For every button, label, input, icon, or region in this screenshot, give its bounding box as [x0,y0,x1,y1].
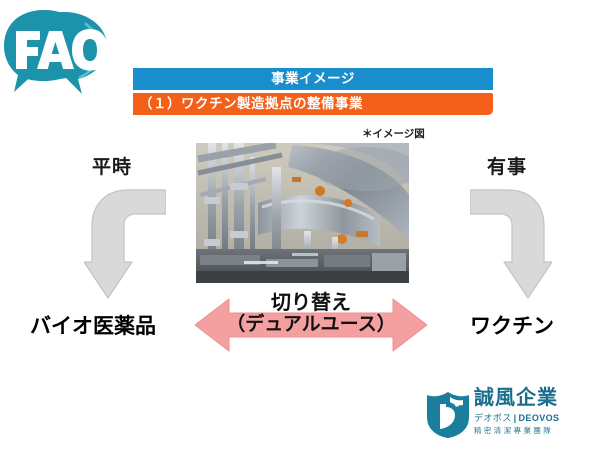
corporate-subname-jp: デオボス [474,413,512,423]
corporate-logo: 誠風企業 デオボス|DEOVOS 精密清潔專業團隊 [426,388,596,446]
corporate-subname-en: DEOVOS [519,413,560,423]
deovos-shield-icon [426,391,470,439]
faq-logo [2,2,117,97]
state-label-peacetime: 平時 [92,152,132,179]
corporate-name: 誠風企業 [474,388,596,409]
section-title-bar-orange: （１）ワクチン製造拠点の整備事業 [133,93,493,115]
corporate-subname-separator: | [512,413,519,423]
plant-photo [196,143,409,283]
curved-arrow-left-icon [84,188,166,300]
state-label-emergency: 有事 [487,152,527,179]
slide-canvas: 事業イメージ （１）ワクチン製造拠点の整備事業 ＊イメージ図 [0,0,600,450]
switch-caption-line2: （デュアルユース） [193,315,429,336]
corporate-tagline: 精密清潔專業團隊 [474,425,596,436]
switch-caption-line1: 切り替え [193,293,429,315]
outcome-label-biopharma: バイオ医薬品 [30,310,156,340]
corporate-subname: デオボス|DEOVOS [474,411,596,424]
outcome-label-vaccine: ワクチン [470,310,554,340]
switch-caption: 切り替え （デュアルユース） [193,293,429,335]
section-title-bar-blue: 事業イメージ [133,68,493,90]
image-note-label: ＊イメージ図 [362,126,425,141]
corporate-logo-text: 誠風企業 デオボス|DEOVOS 精密清潔專業團隊 [474,388,596,436]
curved-arrow-right-icon [470,188,552,300]
